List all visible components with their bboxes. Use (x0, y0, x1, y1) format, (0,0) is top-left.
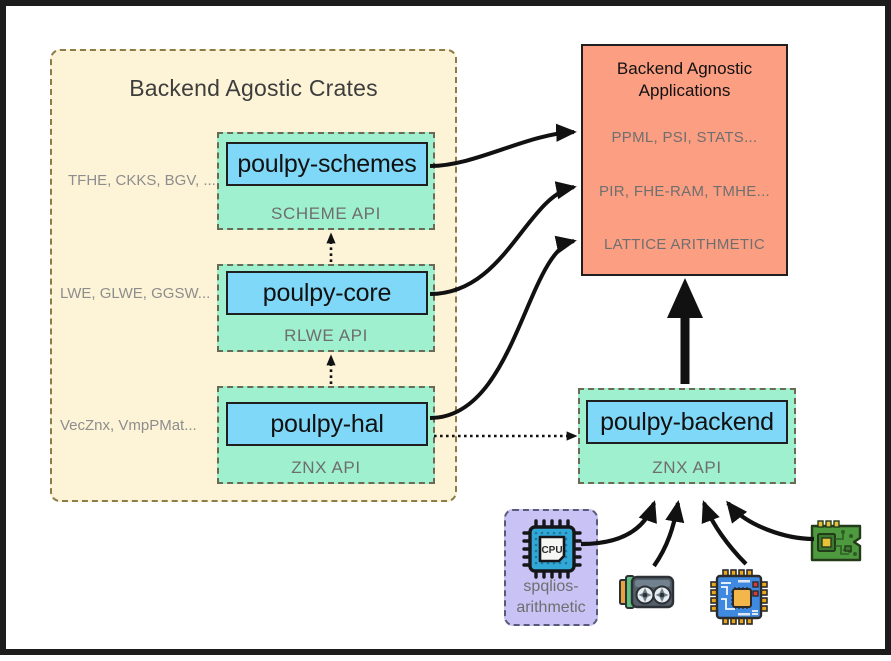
diagram-frame: Backend Agostic Crates TFHE, CKKS, BGV, … (0, 0, 891, 655)
arrow-schemes-to-applications (430, 132, 574, 166)
arrow-backend-to-applications (667, 278, 703, 384)
arrow-gpu-to-backend (654, 503, 678, 566)
arrow-core-to-applications (430, 187, 574, 294)
arrow-fpga-to-backend (728, 503, 814, 539)
arrow-hal-to-applications (430, 241, 574, 418)
arrow-cpu-to-backend (581, 503, 654, 544)
connector-layer (6, 6, 891, 661)
